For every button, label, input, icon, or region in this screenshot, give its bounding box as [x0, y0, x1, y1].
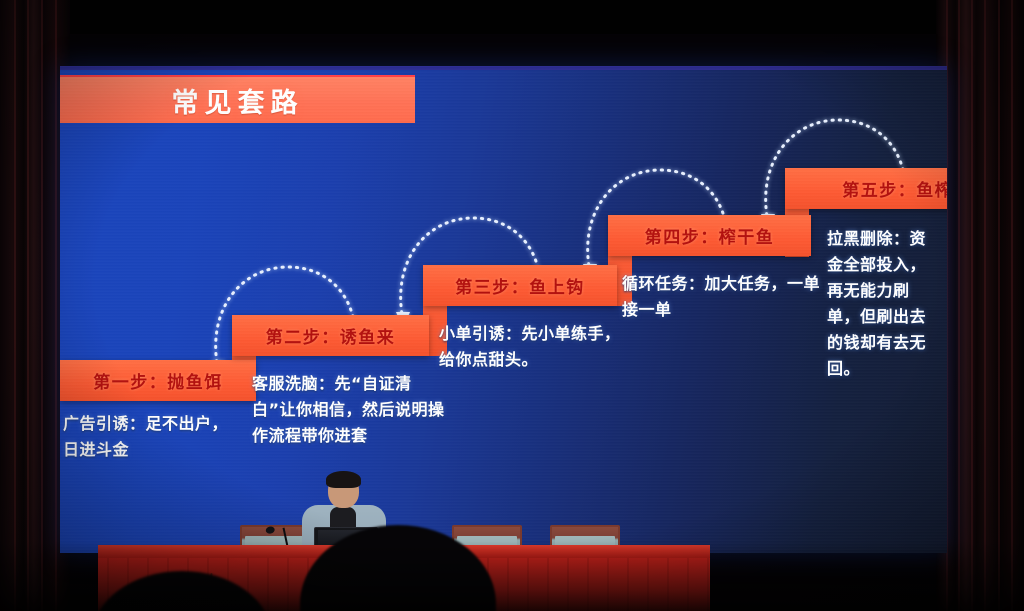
- step-label-2: 第二步：诱鱼来: [266, 323, 396, 348]
- projection-screen: 常见套路 第一步：抛鱼饵: [60, 66, 947, 553]
- step-body-2: 客服洗脑：先“自证清白”让你相信，然后说明操作流程带你进套: [252, 371, 448, 449]
- floor-shadow-gradient: [0, 541, 1024, 611]
- step-bar-3: 第三步：鱼上钩: [423, 265, 617, 306]
- page-title: 常见套路: [172, 81, 304, 120]
- step-bar-4: 第四步：榨干鱼: [608, 215, 811, 256]
- step-label-4: 第四步：榨干鱼: [645, 223, 775, 248]
- step-label-1: 第一步：抛鱼饵: [93, 368, 223, 393]
- presenter-hair: [326, 471, 361, 488]
- step-label-3: 第三步：鱼上钩: [455, 273, 585, 298]
- step-bar-5: 第五步：鱼榨干: [785, 168, 947, 209]
- photograph-scene: 常见套路 第一步：抛鱼饵: [0, 0, 1024, 611]
- step-body-5: 拉黑删除：资金全部投入，再无能力刷单，但刷出去的钱却有去无回。: [827, 226, 931, 381]
- step-bar-1: 第一步：抛鱼饵: [60, 360, 256, 401]
- step-label-5: 第五步：鱼榨干: [842, 176, 947, 201]
- slide-title-banner: 常见套路: [60, 75, 415, 123]
- screen-top-edge: [60, 66, 947, 70]
- step-bar-2: 第二步：诱鱼来: [232, 315, 429, 356]
- step-body-4: 循环任务：加大任务，一单接一单: [622, 271, 822, 323]
- step-body-1: 广告引诱：足不出户，日进斗金: [63, 411, 243, 463]
- ceiling-dark-band: [0, 0, 1024, 34]
- step-body-3: 小单引诱：先小单练手，给你点甜头。: [439, 321, 635, 373]
